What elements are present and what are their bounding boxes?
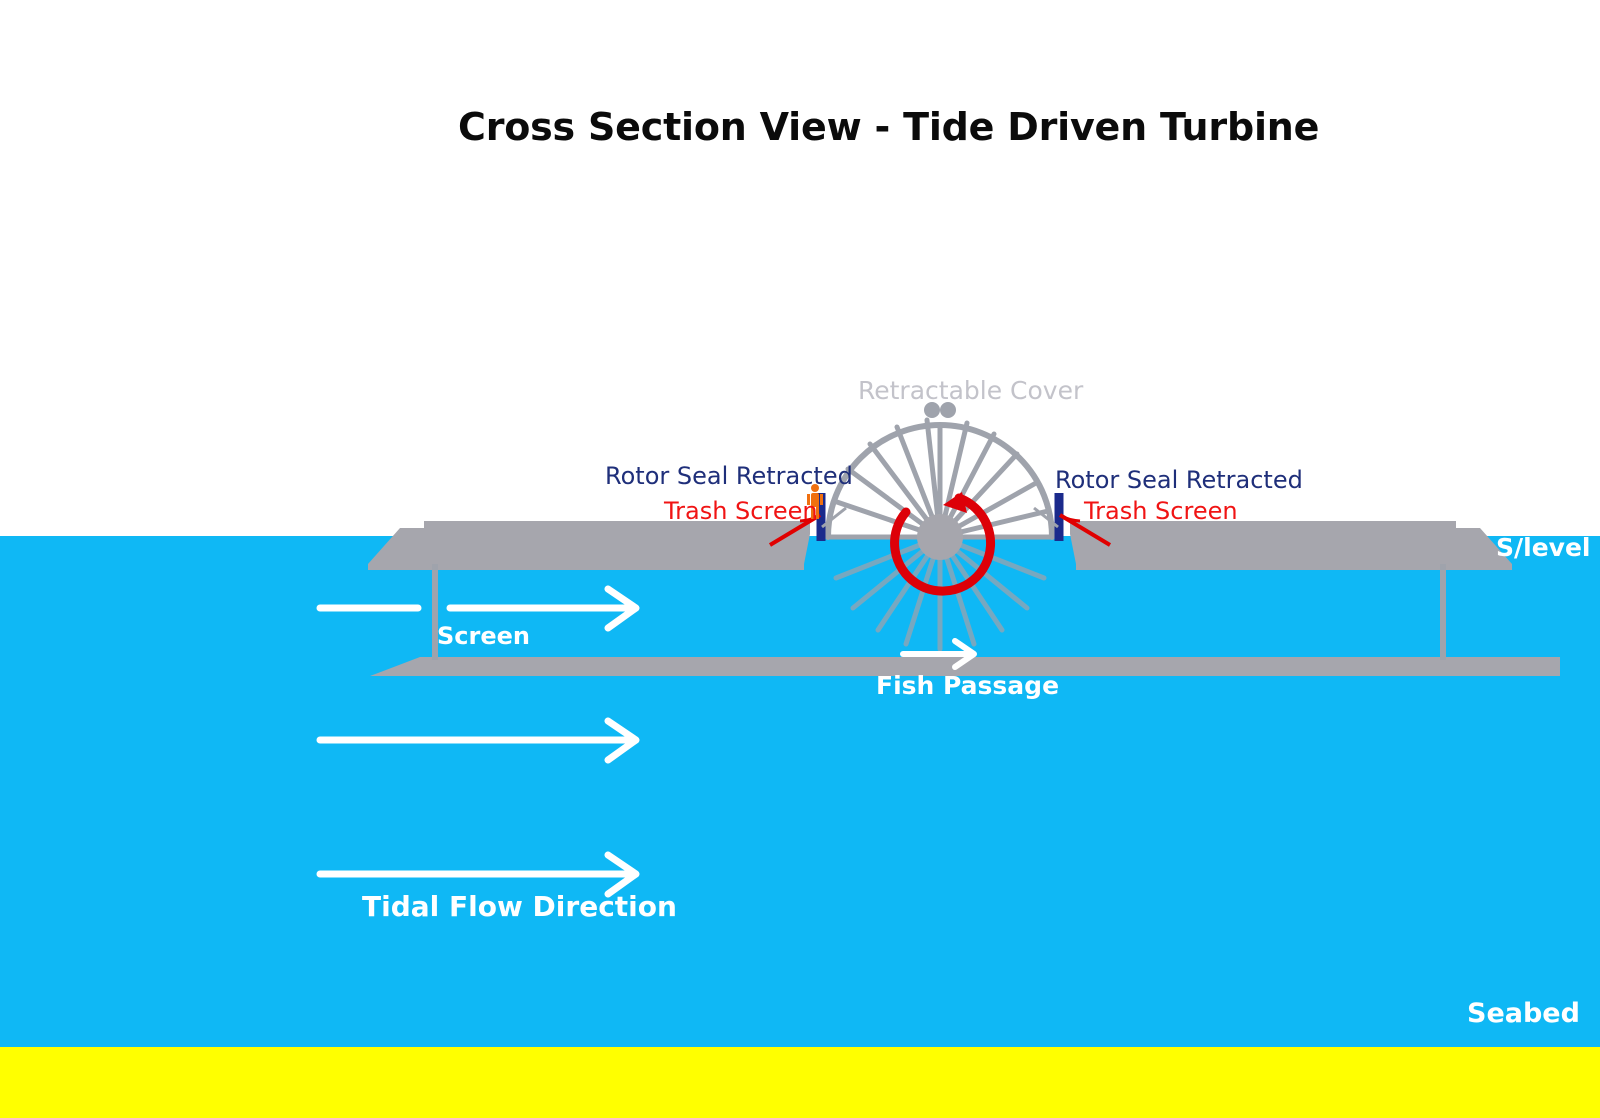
seabed-layer bbox=[0, 1047, 1600, 1118]
rotor-hub bbox=[917, 514, 963, 560]
upper-platform-right-underside bbox=[1076, 564, 1512, 570]
cover-knob-right-icon bbox=[940, 402, 956, 418]
trash-screen-leader-left bbox=[800, 516, 818, 521]
diagram-canvas: Cross Section View - Tide Driven Turbine… bbox=[0, 0, 1600, 1118]
trash-screen-leader-right bbox=[1062, 516, 1080, 521]
upper-platform-right bbox=[1070, 521, 1512, 564]
upper-platform-left bbox=[368, 521, 810, 564]
water-body bbox=[0, 536, 1600, 1047]
cover-knob-left-icon bbox=[924, 402, 940, 418]
cross-section-svg bbox=[0, 0, 1600, 1118]
